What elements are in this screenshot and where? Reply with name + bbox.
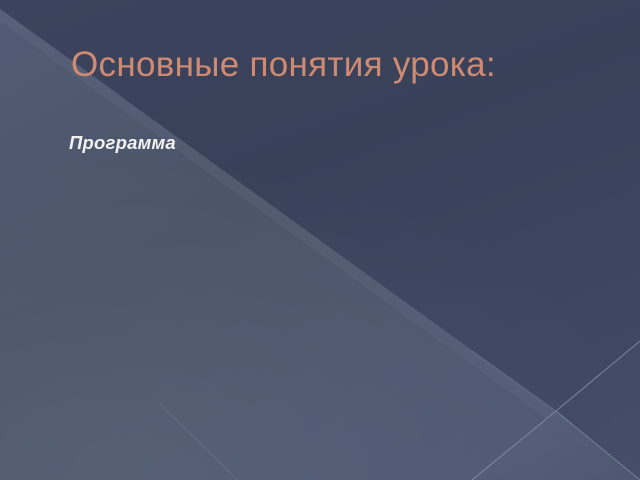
body-line: Программа <box>69 131 569 155</box>
slide-title: Основные понятия урока: <box>71 44 591 85</box>
presentation-slide: Основные понятия урока: Программа <box>0 0 640 480</box>
slide-body: Программа <box>69 131 569 155</box>
slide-content: Основные понятия урока: Программа <box>0 0 640 480</box>
